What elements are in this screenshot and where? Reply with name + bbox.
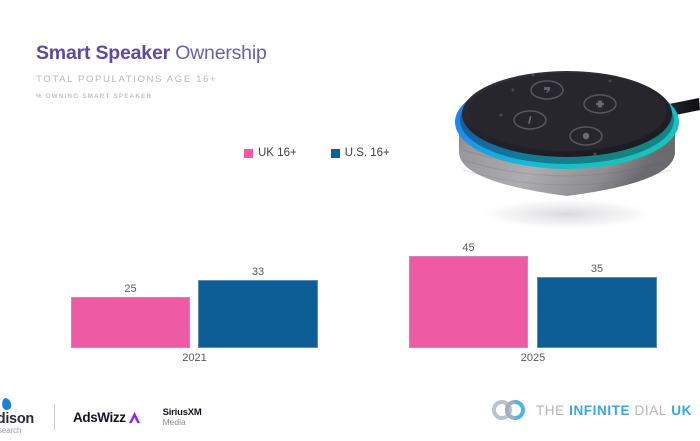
edison-research-sub: research — [0, 426, 21, 435]
infinite-uk: UK — [667, 403, 692, 418]
bar-value-us-2021: 33 — [198, 266, 318, 278]
infinite-infinite: INFINITE — [569, 403, 630, 418]
footer-divider — [54, 404, 55, 430]
bar-uk-2025[interactable] — [409, 256, 528, 348]
adswizz-wordmark: AdsWizz — [73, 410, 126, 425]
bar-chart: 25 33 2021 45 35 2025 — [0, 0, 700, 441]
infinite-dial-wordmark: THE INFINITE DIAL UK — [536, 403, 692, 418]
edison-research-logo: edison research — [0, 397, 46, 437]
siriusxm-media-logo: SiriusXM Media — [163, 408, 202, 427]
slide-canvas: Smart Speaker Ownership TOTAL POPULATION… — [0, 0, 700, 441]
infinite-dial-uk-logo: THE INFINITE DIAL UK — [491, 400, 692, 420]
bar-us-2021[interactable] — [198, 280, 318, 348]
infinite-the: THE — [536, 403, 569, 418]
bar-uk-2021[interactable] — [71, 297, 190, 348]
bar-us-2025[interactable] — [537, 277, 657, 348]
footer-sponsor-logos: edison research AdsWizz SiriusXM Media — [0, 396, 202, 438]
bar-value-us-2025: 35 — [537, 263, 657, 275]
category-label-2025: 2025 — [409, 352, 657, 364]
bar-value-uk-2021: 25 — [71, 283, 190, 295]
adswizz-logo: AdsWizz — [73, 410, 141, 425]
edison-drop-icon — [1, 397, 12, 411]
adswizz-chevron-icon — [128, 411, 141, 424]
infinite-dial: DIAL — [630, 403, 667, 418]
category-label-2021: 2021 — [71, 352, 318, 364]
siriusxm-media-sub: Media — [163, 418, 202, 427]
bar-value-uk-2025: 45 — [409, 242, 528, 254]
infinite-loop-icon — [491, 400, 529, 420]
edison-wordmark: edison — [0, 411, 34, 427]
